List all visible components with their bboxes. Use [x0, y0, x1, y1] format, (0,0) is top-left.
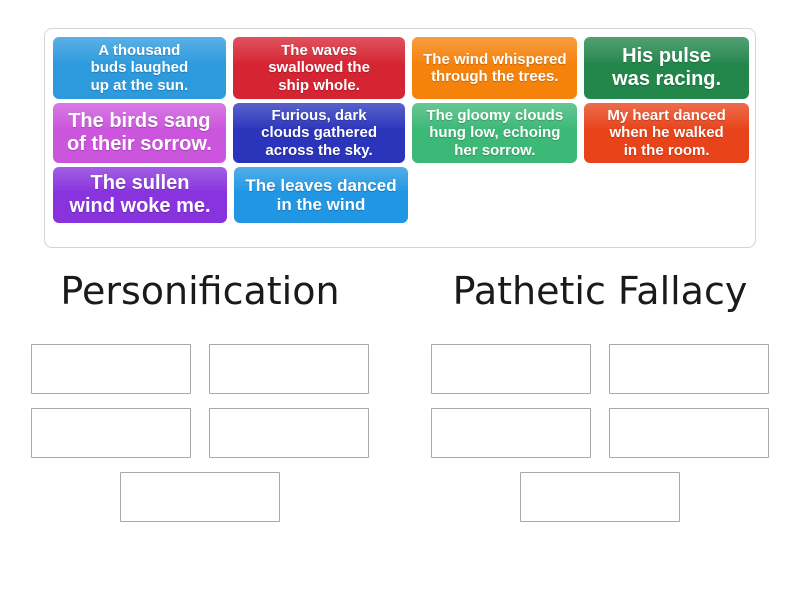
drop-slot[interactable]	[31, 408, 191, 458]
column-personification: Personification	[0, 272, 400, 522]
answer-tile[interactable]: The waves swallowed the ship whole.	[233, 37, 406, 99]
answer-tile-label: My heart danced when he walked in the ro…	[607, 107, 725, 158]
drop-slot[interactable]	[209, 344, 369, 394]
answer-tile-label: Furious, dark clouds gathered across the…	[261, 107, 377, 158]
answer-tile[interactable]: The leaves danced in the wind	[234, 167, 408, 223]
drop-slot[interactable]	[120, 472, 280, 522]
drop-slot[interactable]	[209, 408, 369, 458]
answer-tile-label: The waves swallowed the ship whole.	[268, 42, 370, 93]
answer-tile[interactable]: My heart danced when he walked in the ro…	[584, 103, 749, 163]
category-title: Pathetic Fallacy	[453, 272, 748, 310]
answer-tile-label: The leaves danced in the wind	[245, 176, 396, 215]
tray-row-3: The sullen wind woke me.The leaves dance…	[51, 167, 749, 223]
category-columns: PersonificationPathetic Fallacy	[0, 272, 800, 522]
answer-tile[interactable]: The birds sang of their sorrow.	[53, 103, 226, 163]
answer-tile[interactable]: The gloomy clouds hung low, echoing her …	[412, 103, 577, 163]
answer-tile[interactable]: Furious, dark clouds gathered across the…	[233, 103, 406, 163]
drop-slot-group	[414, 344, 786, 522]
answer-tile-label: His pulse was racing.	[612, 45, 721, 91]
drop-slot[interactable]	[609, 408, 769, 458]
drop-slot[interactable]	[520, 472, 680, 522]
answer-tile[interactable]: A thousand buds laughed up at the sun.	[53, 37, 226, 99]
drop-slot[interactable]	[31, 344, 191, 394]
answer-tiles-tray: A thousand buds laughed up at the sun.Th…	[44, 28, 756, 248]
answer-tile-label: The sullen wind woke me.	[69, 172, 210, 218]
tray-row-2: The birds sang of their sorrow.Furious, …	[51, 103, 749, 163]
tray-rows: A thousand buds laughed up at the sun.Th…	[51, 37, 749, 223]
column-pathetic-fallacy: Pathetic Fallacy	[400, 272, 800, 522]
answer-tile[interactable]: His pulse was racing.	[584, 37, 749, 99]
answer-tile-label: The gloomy clouds hung low, echoing her …	[426, 107, 563, 158]
answer-tile[interactable]: The sullen wind woke me.	[53, 167, 227, 223]
category-title: Personification	[60, 272, 339, 310]
drop-slot[interactable]	[609, 344, 769, 394]
drop-slot[interactable]	[431, 408, 591, 458]
group-sort-activity: A thousand buds laughed up at the sun.Th…	[0, 0, 800, 600]
tray-row-1: A thousand buds laughed up at the sun.Th…	[51, 37, 749, 99]
drop-slot-group	[14, 344, 386, 522]
answer-tile-label: A thousand buds laughed up at the sun.	[91, 42, 189, 93]
answer-tile-label: The birds sang of their sorrow.	[67, 110, 212, 156]
drop-slot[interactable]	[431, 344, 591, 394]
answer-tile[interactable]: The wind whispered through the trees.	[412, 37, 577, 99]
answer-tile-label: The wind whispered through the trees.	[423, 51, 566, 85]
